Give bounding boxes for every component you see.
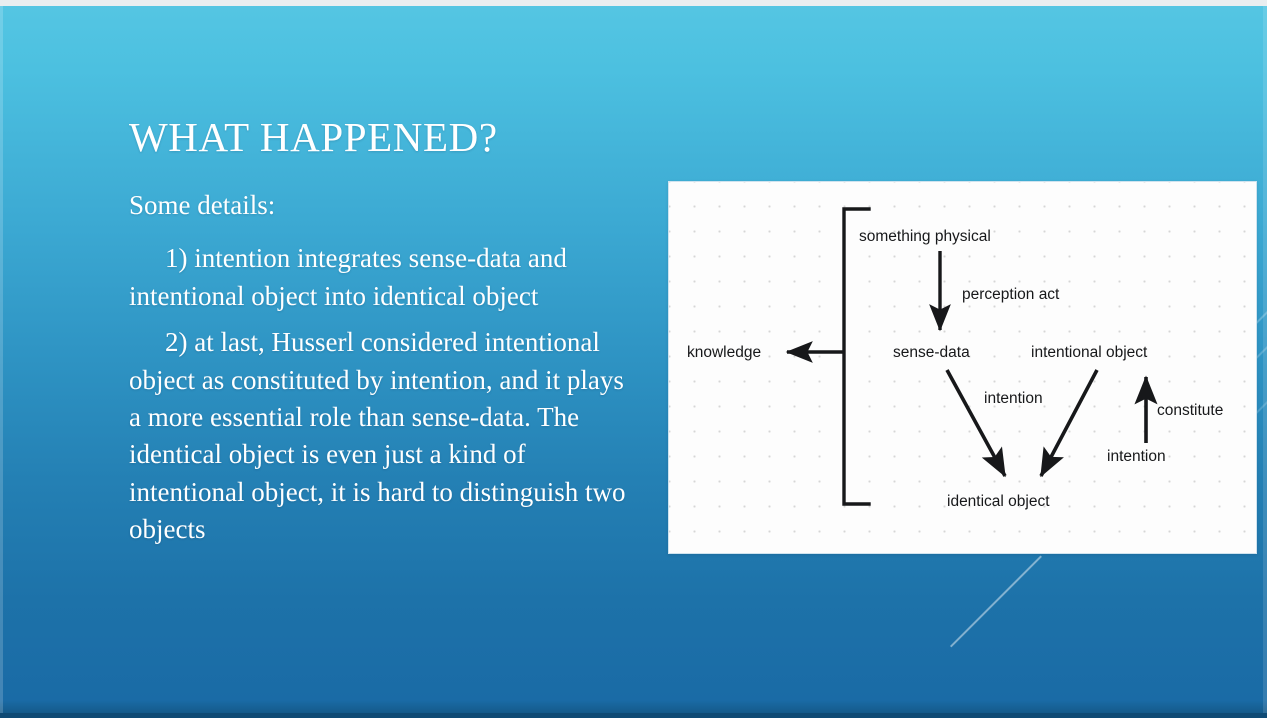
slide-left-border [0,6,3,718]
bracket-connector [844,209,869,504]
edge-label-constitute: constitute [1157,403,1223,419]
edge-label-intention-right: intention [1107,449,1166,465]
body-point-1: 1) intention integrates sense-data and i… [129,240,629,315]
edge-label-perception-act: perception act [962,287,1059,303]
node-sense-data: sense-data [893,345,970,361]
slide-top-border [0,0,1267,6]
node-identical-object: identical object [947,494,1050,510]
decorative-diagonal-line-1 [950,555,1042,647]
arrow-sense-data-to-identical-object [947,370,1005,476]
body-lead: Some details: [129,187,629,224]
slide-body: Some details: 1) intention integrates se… [129,187,629,558]
edge-label-intention-left: intention [984,391,1043,407]
body-point-2: 2) at last, Husserl considered intention… [129,324,629,548]
slide-right-border [1263,6,1267,718]
page-title: WHAT HAPPENED? [129,112,498,162]
arrow-intentional-object-to-identical-object [1041,370,1097,476]
diagram-card: something physical knowledge sense-data … [668,181,1257,554]
slide-bottom-border [0,713,1267,718]
node-something-physical: something physical [859,229,991,245]
node-intentional-object: intentional object [1031,345,1147,361]
node-knowledge: knowledge [687,345,761,361]
slide: WHAT HAPPENED? Some details: 1) intentio… [0,0,1267,718]
